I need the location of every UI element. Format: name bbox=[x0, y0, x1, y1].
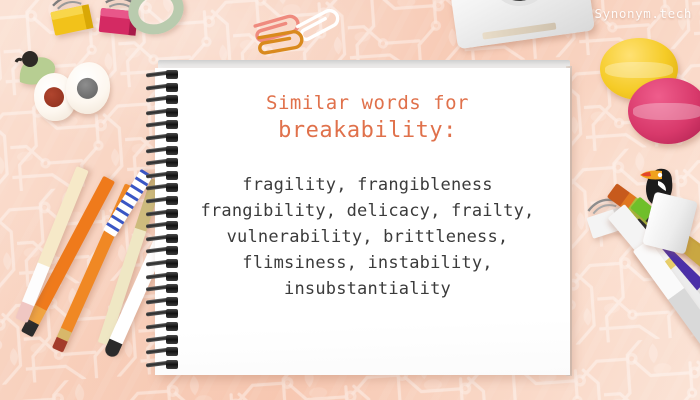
synonym-line: vulnerability, brittleness, bbox=[175, 225, 560, 251]
spiral-coil bbox=[146, 83, 180, 92]
spiral-coil bbox=[146, 335, 180, 344]
spiral-coil bbox=[146, 70, 180, 79]
synonym-line: insubstantiality bbox=[175, 277, 560, 303]
avocado-pit-red bbox=[43, 86, 66, 109]
synonym-line: frangibility, delicacy, frailty, bbox=[175, 199, 560, 225]
title-line-1: Similar words for bbox=[175, 92, 560, 116]
watermark-logo: Synonym.tech bbox=[594, 6, 692, 21]
spiral-coil bbox=[146, 347, 180, 356]
notepad-content: Similar words for breakability: fragilit… bbox=[175, 92, 560, 303]
synonym-list: fragility, frangiblenessfrangibility, de… bbox=[175, 173, 560, 302]
paper-clip-orange bbox=[250, 22, 312, 62]
spiral-coil bbox=[146, 360, 180, 369]
spiral-coil bbox=[146, 322, 180, 331]
spiral-coil bbox=[146, 309, 180, 318]
camera-lens bbox=[484, 0, 554, 10]
avocado-pit-grey bbox=[75, 76, 99, 100]
synonym-line: flimsiness, instability, bbox=[175, 251, 560, 277]
headword-title: breakability: bbox=[175, 116, 560, 146]
synonym-line: fragility, frangibleness bbox=[175, 173, 560, 199]
macaron-pink bbox=[628, 78, 700, 144]
